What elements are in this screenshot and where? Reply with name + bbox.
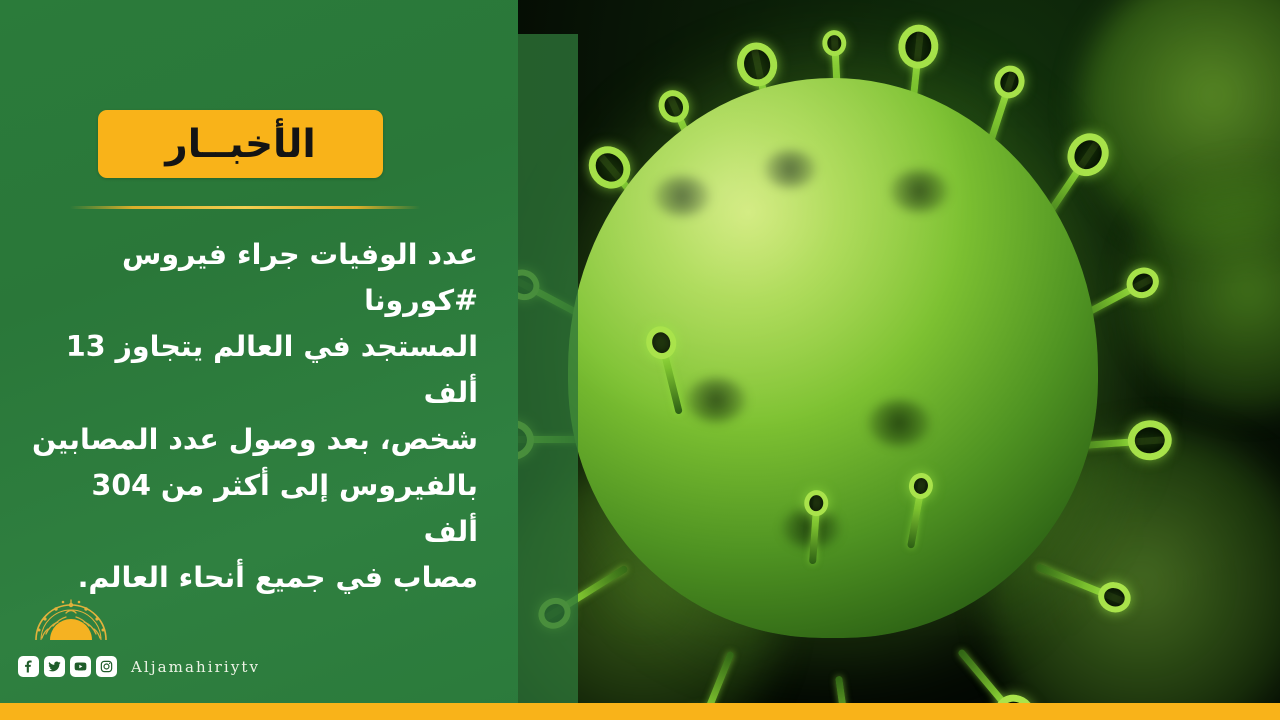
headline-line: شخص، بعد وصول عدد المصابين — [28, 417, 478, 463]
headline-line: بالفيروس إلى أكثر من 304 ألف — [28, 463, 478, 555]
twitter-icon[interactable] — [44, 656, 65, 677]
gold-divider — [70, 206, 420, 209]
aljamahiriya-sunrise-emblem — [22, 588, 120, 640]
headline-line: المستجد في العالم يتجاوز 13 ألف — [28, 324, 478, 416]
facebook-icon[interactable] — [18, 656, 39, 677]
membrane-pit — [686, 378, 746, 422]
brand-name: Aljamahiriytv — [131, 658, 260, 676]
membrane-pit — [764, 150, 816, 188]
main-virus-particle — [568, 78, 1098, 638]
bottom-gold-bar — [0, 703, 1280, 720]
membrane-pit — [654, 176, 710, 216]
membrane-pit — [890, 170, 948, 212]
virus-spike-front — [800, 493, 829, 565]
content-panel: الأخبــار عدد الوفيات جراء فيروس #كورونا… — [0, 0, 518, 720]
instagram-icon[interactable] — [96, 656, 117, 677]
headline-text: عدد الوفيات جراء فيروس #كورونا المستجد ف… — [28, 232, 478, 601]
social-links: Aljamahiriytv — [18, 656, 260, 677]
membrane-pit — [868, 400, 930, 446]
youtube-icon[interactable] — [70, 656, 91, 677]
news-card: الأخبــار عدد الوفيات جراء فيروس #كورونا… — [0, 0, 1280, 720]
headline-line: عدد الوفيات جراء فيروس #كورونا — [28, 232, 478, 324]
brand-block: Aljamahiriytv — [18, 588, 318, 688]
category-badge: الأخبــار — [98, 110, 383, 178]
virus-membrane — [568, 78, 1098, 638]
category-badge-label: الأخبــار — [165, 125, 315, 164]
coronavirus-photo — [518, 0, 1280, 720]
photo-tint-overlay — [518, 34, 578, 720]
